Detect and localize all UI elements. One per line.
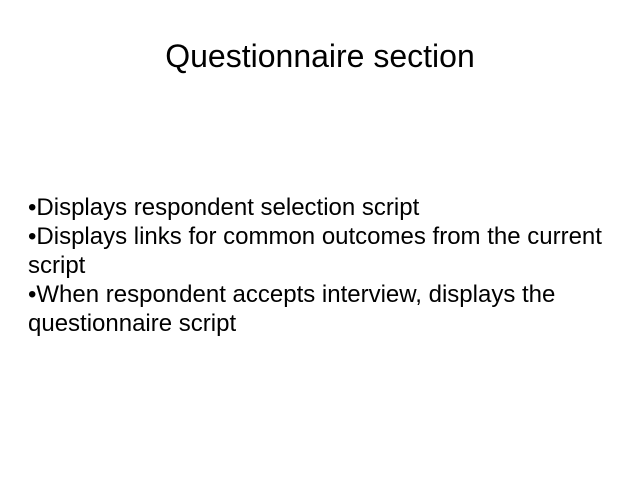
presentation-slide: Questionnaire section •Displays responde…	[0, 0, 640, 480]
bullet-list-item: •Displays links for common outcomes from…	[28, 222, 606, 280]
bullet-item-text: Displays links for common outcomes from …	[28, 223, 602, 279]
bullet-list-item: •When respondent accepts interview, disp…	[28, 280, 606, 338]
slide-body-content: •Displays respondent selection script •D…	[28, 193, 606, 338]
bullet-list-item: •Displays respondent selection script	[28, 193, 606, 222]
slide-title: Questionnaire section	[0, 36, 640, 76]
bullet-item-text: Displays respondent selection script	[36, 194, 419, 221]
bullet-item-text: When respondent accepts interview, displ…	[28, 281, 555, 337]
